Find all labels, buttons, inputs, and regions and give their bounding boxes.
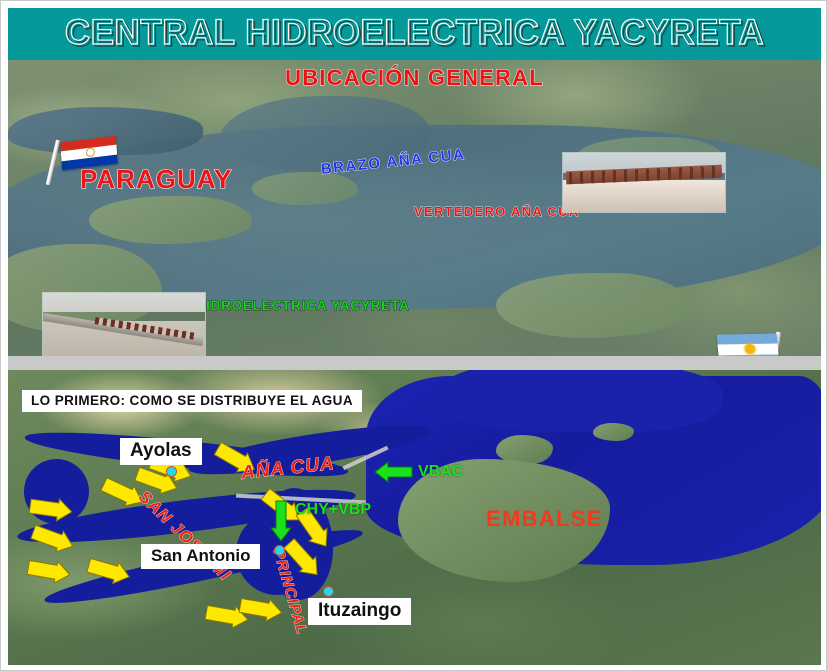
city-label-ayolas: Ayolas (120, 438, 202, 465)
page-title: CENTRAL HIDROELECTRICA YACYRETA (8, 8, 821, 60)
lower-map-banner: LO PRIMERO: COMO SE DISTRIBUYE EL AGUA (22, 390, 362, 412)
embalse-upper-lobe (431, 370, 724, 432)
powerplant-photo-inset (42, 292, 206, 356)
section-title-ubicacion: UBICACIÓN GENERAL (8, 65, 821, 91)
label-vertedero-ana-cua: VERTEDERO AÑA CUA (414, 204, 580, 219)
city-marker-sanantonio (274, 545, 285, 556)
slide-canvas: CENTRAL HIDROELECTRICA YACYRETA UBICACIÓ… (0, 0, 827, 671)
reservoir-island-3 (593, 423, 634, 441)
title-banner: CENTRAL HIDROELECTRICA YACYRETA (8, 8, 821, 60)
city-marker-ayolas (166, 466, 177, 477)
lower-distribution-map: LO PRIMERO: COMO SE DISTRIBUYE EL AGUA (8, 370, 821, 665)
label-chy-vbp: CHY+VBP (295, 501, 371, 519)
label-embalse: EMBALSE (486, 506, 603, 532)
upper-satellite-map: UBICACIÓN GENERAL PARAGUAY ARGENTINA BRA… (8, 60, 821, 356)
chy-vbp-arrow-icon (271, 500, 291, 542)
city-marker-ituzaingo (323, 586, 334, 597)
panel-divider (8, 356, 821, 370)
vbac-arrow-icon (374, 462, 414, 482)
label-paraguay: PARAGUAY (80, 164, 232, 195)
city-label-ituzaingo: Ituzaingo (308, 598, 411, 625)
city-label-san-antonio: San Antonio (141, 544, 260, 569)
argentina-flag-icon (718, 332, 790, 356)
spillway-photo-inset (562, 152, 726, 213)
island-patch-1 (89, 196, 252, 243)
flag-cloth (717, 334, 780, 356)
label-vbac: VBAC (418, 463, 463, 481)
island-patch-4 (496, 273, 691, 338)
island-patch-2 (252, 172, 358, 205)
